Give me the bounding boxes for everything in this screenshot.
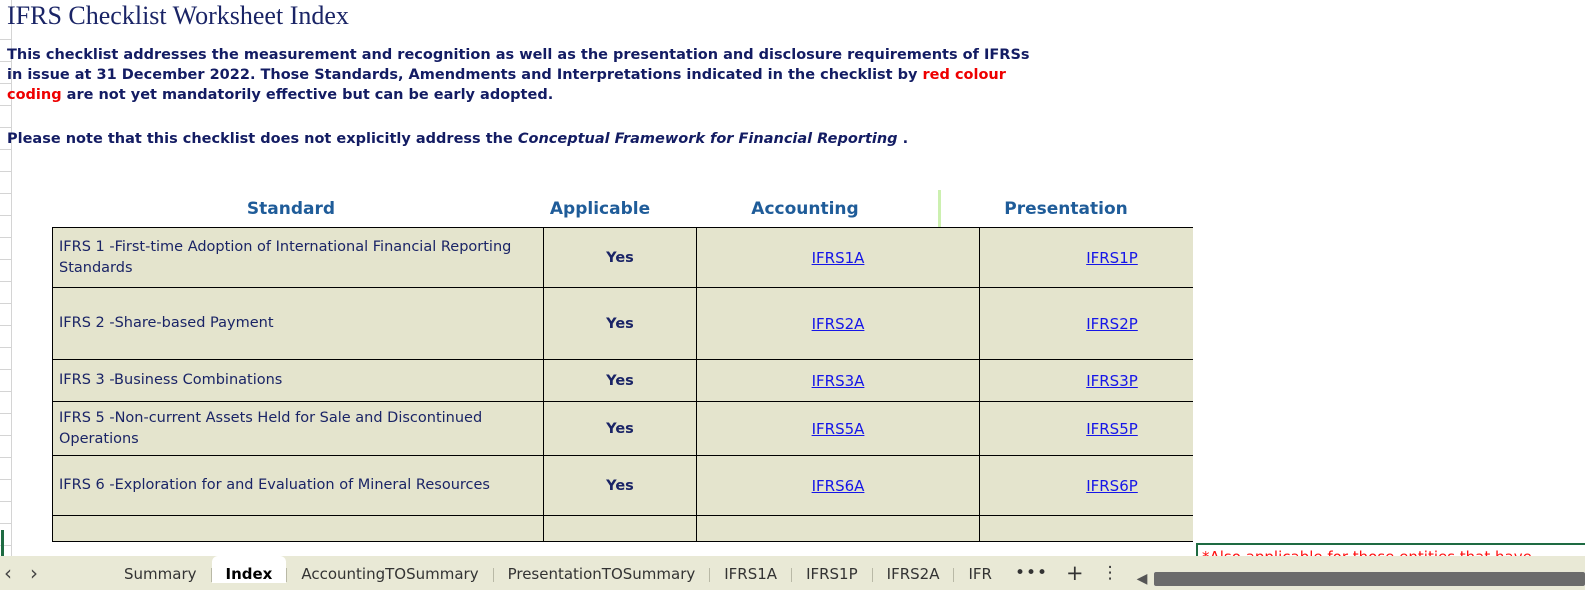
table-row: IFRS 1 -First-time Adoption of Internati… — [53, 228, 1245, 288]
sheet-tab-summary[interactable]: Summary — [110, 556, 211, 583]
intro-line-2-red: red colour — [923, 67, 1006, 83]
cell-accounting[interactable]: IFRS1A — [697, 228, 980, 288]
selection-marker — [1, 530, 4, 556]
prev-sheet-icon[interactable]: ‹ — [4, 562, 12, 584]
cell-accounting[interactable] — [697, 516, 980, 542]
gutter-cell — [0, 172, 11, 194]
sheet-nav-arrows[interactable]: ‹ › — [4, 562, 38, 584]
standard-name: IFRS 5 -Non-current Assets Held for Sale… — [59, 408, 537, 450]
column-header-presentation: Presentation — [940, 199, 1192, 219]
intro-line-2: in issue at 31 December 2022. Those Stan… — [7, 65, 1030, 85]
gutter-cell — [0, 436, 11, 458]
gutter-cell — [0, 282, 11, 304]
cell-applicable[interactable]: Yes — [544, 228, 697, 288]
intro-line-1: This checklist addresses the measurement… — [7, 45, 1030, 65]
presentation-link[interactable]: IFRS6P — [1086, 477, 1138, 495]
accounting-link[interactable]: IFRS3A — [812, 372, 865, 390]
gutter-cell — [0, 458, 11, 480]
scrollbar-thumb[interactable] — [1154, 572, 1585, 586]
cell-applicable[interactable]: Yes — [544, 360, 697, 402]
table-row: IFRS 6 -Exploration for and Evaluation o… — [53, 456, 1245, 516]
cell-standard[interactable] — [53, 516, 544, 542]
cell-accounting[interactable]: IFRS3A — [697, 360, 980, 402]
intro2-italic: Conceptual Framework for Financial Repor… — [518, 131, 898, 147]
intro-line-3: coding are not yet mandatorily effective… — [7, 85, 1030, 105]
gutter-cell — [0, 304, 11, 326]
spreadsheet-canvas[interactable]: IFRS Checklist Worksheet Index This chec… — [0, 0, 1585, 556]
table-row: IFRS 5 -Non-current Assets Held for Sale… — [53, 402, 1245, 456]
cell-applicable[interactable]: Yes — [544, 456, 697, 516]
intro-paragraph-1: This checklist addresses the measurement… — [7, 45, 1030, 105]
empty-right-area — [1193, 0, 1585, 543]
sheet-tabs[interactable]: SummaryIndexAccountingTOSummaryPresentat… — [110, 556, 1128, 590]
accounting-link[interactable]: IFRS2A — [812, 315, 865, 333]
table-column-headers: Standard Applicable Accounting Presentat… — [52, 199, 1192, 225]
presentation-link[interactable]: IFRS3P — [1086, 372, 1138, 390]
sheet-tab-ifr[interactable]: IFR — [954, 556, 1005, 583]
more-sheets-icon[interactable]: ••• — [1006, 556, 1057, 584]
intro-line-3-red: coding — [7, 87, 62, 103]
table-row: IFRS 2 -Share-based PaymentYesIFRS2AIFRS… — [53, 288, 1245, 360]
gutter-cell — [0, 392, 11, 414]
accounting-link[interactable]: IFRS5A — [812, 420, 865, 438]
intro-paragraph-2: Please note that this checklist does not… — [7, 129, 908, 149]
gutter-cell — [0, 414, 11, 436]
gutter-cell — [0, 502, 11, 524]
gutter-cell — [0, 150, 11, 172]
intro-line-2-text: in issue at 31 December 2022. Those Stan… — [7, 67, 923, 83]
table-row: IFRS 3 -Business CombinationsYesIFRS3AIF… — [53, 360, 1245, 402]
cell-applicable[interactable] — [544, 516, 697, 542]
scrollbar-track[interactable] — [1154, 572, 1585, 586]
cell-standard[interactable]: IFRS 3 -Business Combinations — [53, 360, 544, 402]
presentation-link[interactable]: IFRS5P — [1086, 420, 1138, 438]
accounting-link[interactable]: IFRS6A — [812, 477, 865, 495]
presentation-link[interactable]: IFRS1P — [1086, 249, 1138, 267]
gutter-cell — [0, 106, 11, 128]
scroll-left-icon[interactable]: ◀ — [1130, 569, 1154, 589]
intro2-text-b: . — [898, 131, 909, 147]
accounting-link[interactable]: IFRS1A — [812, 249, 865, 267]
intro2-text-a: Please note that this checklist does not… — [7, 131, 518, 147]
standard-name: IFRS 3 -Business Combinations — [59, 370, 537, 391]
cell-accounting[interactable]: IFRS6A — [697, 456, 980, 516]
gutter-cell — [0, 326, 11, 348]
intro2-line: Please note that this checklist does not… — [7, 129, 908, 149]
standard-name: IFRS 6 -Exploration for and Evaluation o… — [59, 475, 537, 496]
cell-standard[interactable]: IFRS 5 -Non-current Assets Held for Sale… — [53, 402, 544, 456]
gutter-cell — [0, 348, 11, 370]
sheet-tab-accountingtosummary[interactable]: AccountingTOSummary — [287, 556, 492, 583]
sheet-tab-ifrs1p[interactable]: IFRS1P — [792, 556, 872, 583]
gutter-cell — [0, 370, 11, 392]
cell-accounting[interactable]: IFRS2A — [697, 288, 980, 360]
cell-applicable[interactable]: Yes — [544, 402, 697, 456]
footnote-note: *Also applicable for those entities that… — [1196, 543, 1585, 556]
cell-applicable[interactable]: Yes — [544, 288, 697, 360]
gutter-cell — [0, 194, 11, 216]
add-sheet-icon[interactable]: + — [1057, 556, 1093, 584]
gutter-cell — [0, 260, 11, 282]
cell-standard[interactable]: IFRS 2 -Share-based Payment — [53, 288, 544, 360]
presentation-link[interactable]: IFRS2P — [1086, 315, 1138, 333]
gutter-cell — [0, 480, 11, 502]
intro-line-3-text: are not yet mandatorily effective but ca… — [62, 87, 554, 103]
sheet-tab-index[interactable]: Index — [212, 556, 287, 583]
ifrs-standards-table: IFRS 1 -First-time Adoption of Internati… — [52, 227, 1245, 542]
gutter-cell — [0, 216, 11, 238]
sheet-menu-icon[interactable]: ⋮ — [1093, 556, 1128, 584]
cell-standard[interactable]: IFRS 6 -Exploration for and Evaluation o… — [53, 456, 544, 516]
sheet-tab-ifrs2a[interactable]: IFRS2A — [873, 556, 954, 583]
cell-accounting[interactable]: IFRS5A — [697, 402, 980, 456]
column-header-applicable: Applicable — [530, 199, 670, 219]
page-title: IFRS Checklist Worksheet Index — [7, 1, 349, 31]
column-header-accounting: Accounting — [670, 199, 940, 219]
table-row — [53, 516, 1245, 542]
standard-name: IFRS 2 -Share-based Payment — [59, 313, 537, 334]
horizontal-scrollbar[interactable]: ◀ — [1130, 568, 1585, 590]
gutter-cell — [0, 238, 11, 260]
sheet-tab-ifrs1a[interactable]: IFRS1A — [710, 556, 791, 583]
standard-name: IFRS 1 -First-time Adoption of Internati… — [59, 237, 537, 279]
column-header-standard: Standard — [52, 199, 530, 219]
sheet-tab-presentationtosummary[interactable]: PresentationTOSummary — [494, 556, 710, 583]
next-sheet-icon[interactable]: › — [30, 562, 38, 584]
cell-standard[interactable]: IFRS 1 -First-time Adoption of Internati… — [53, 228, 544, 288]
